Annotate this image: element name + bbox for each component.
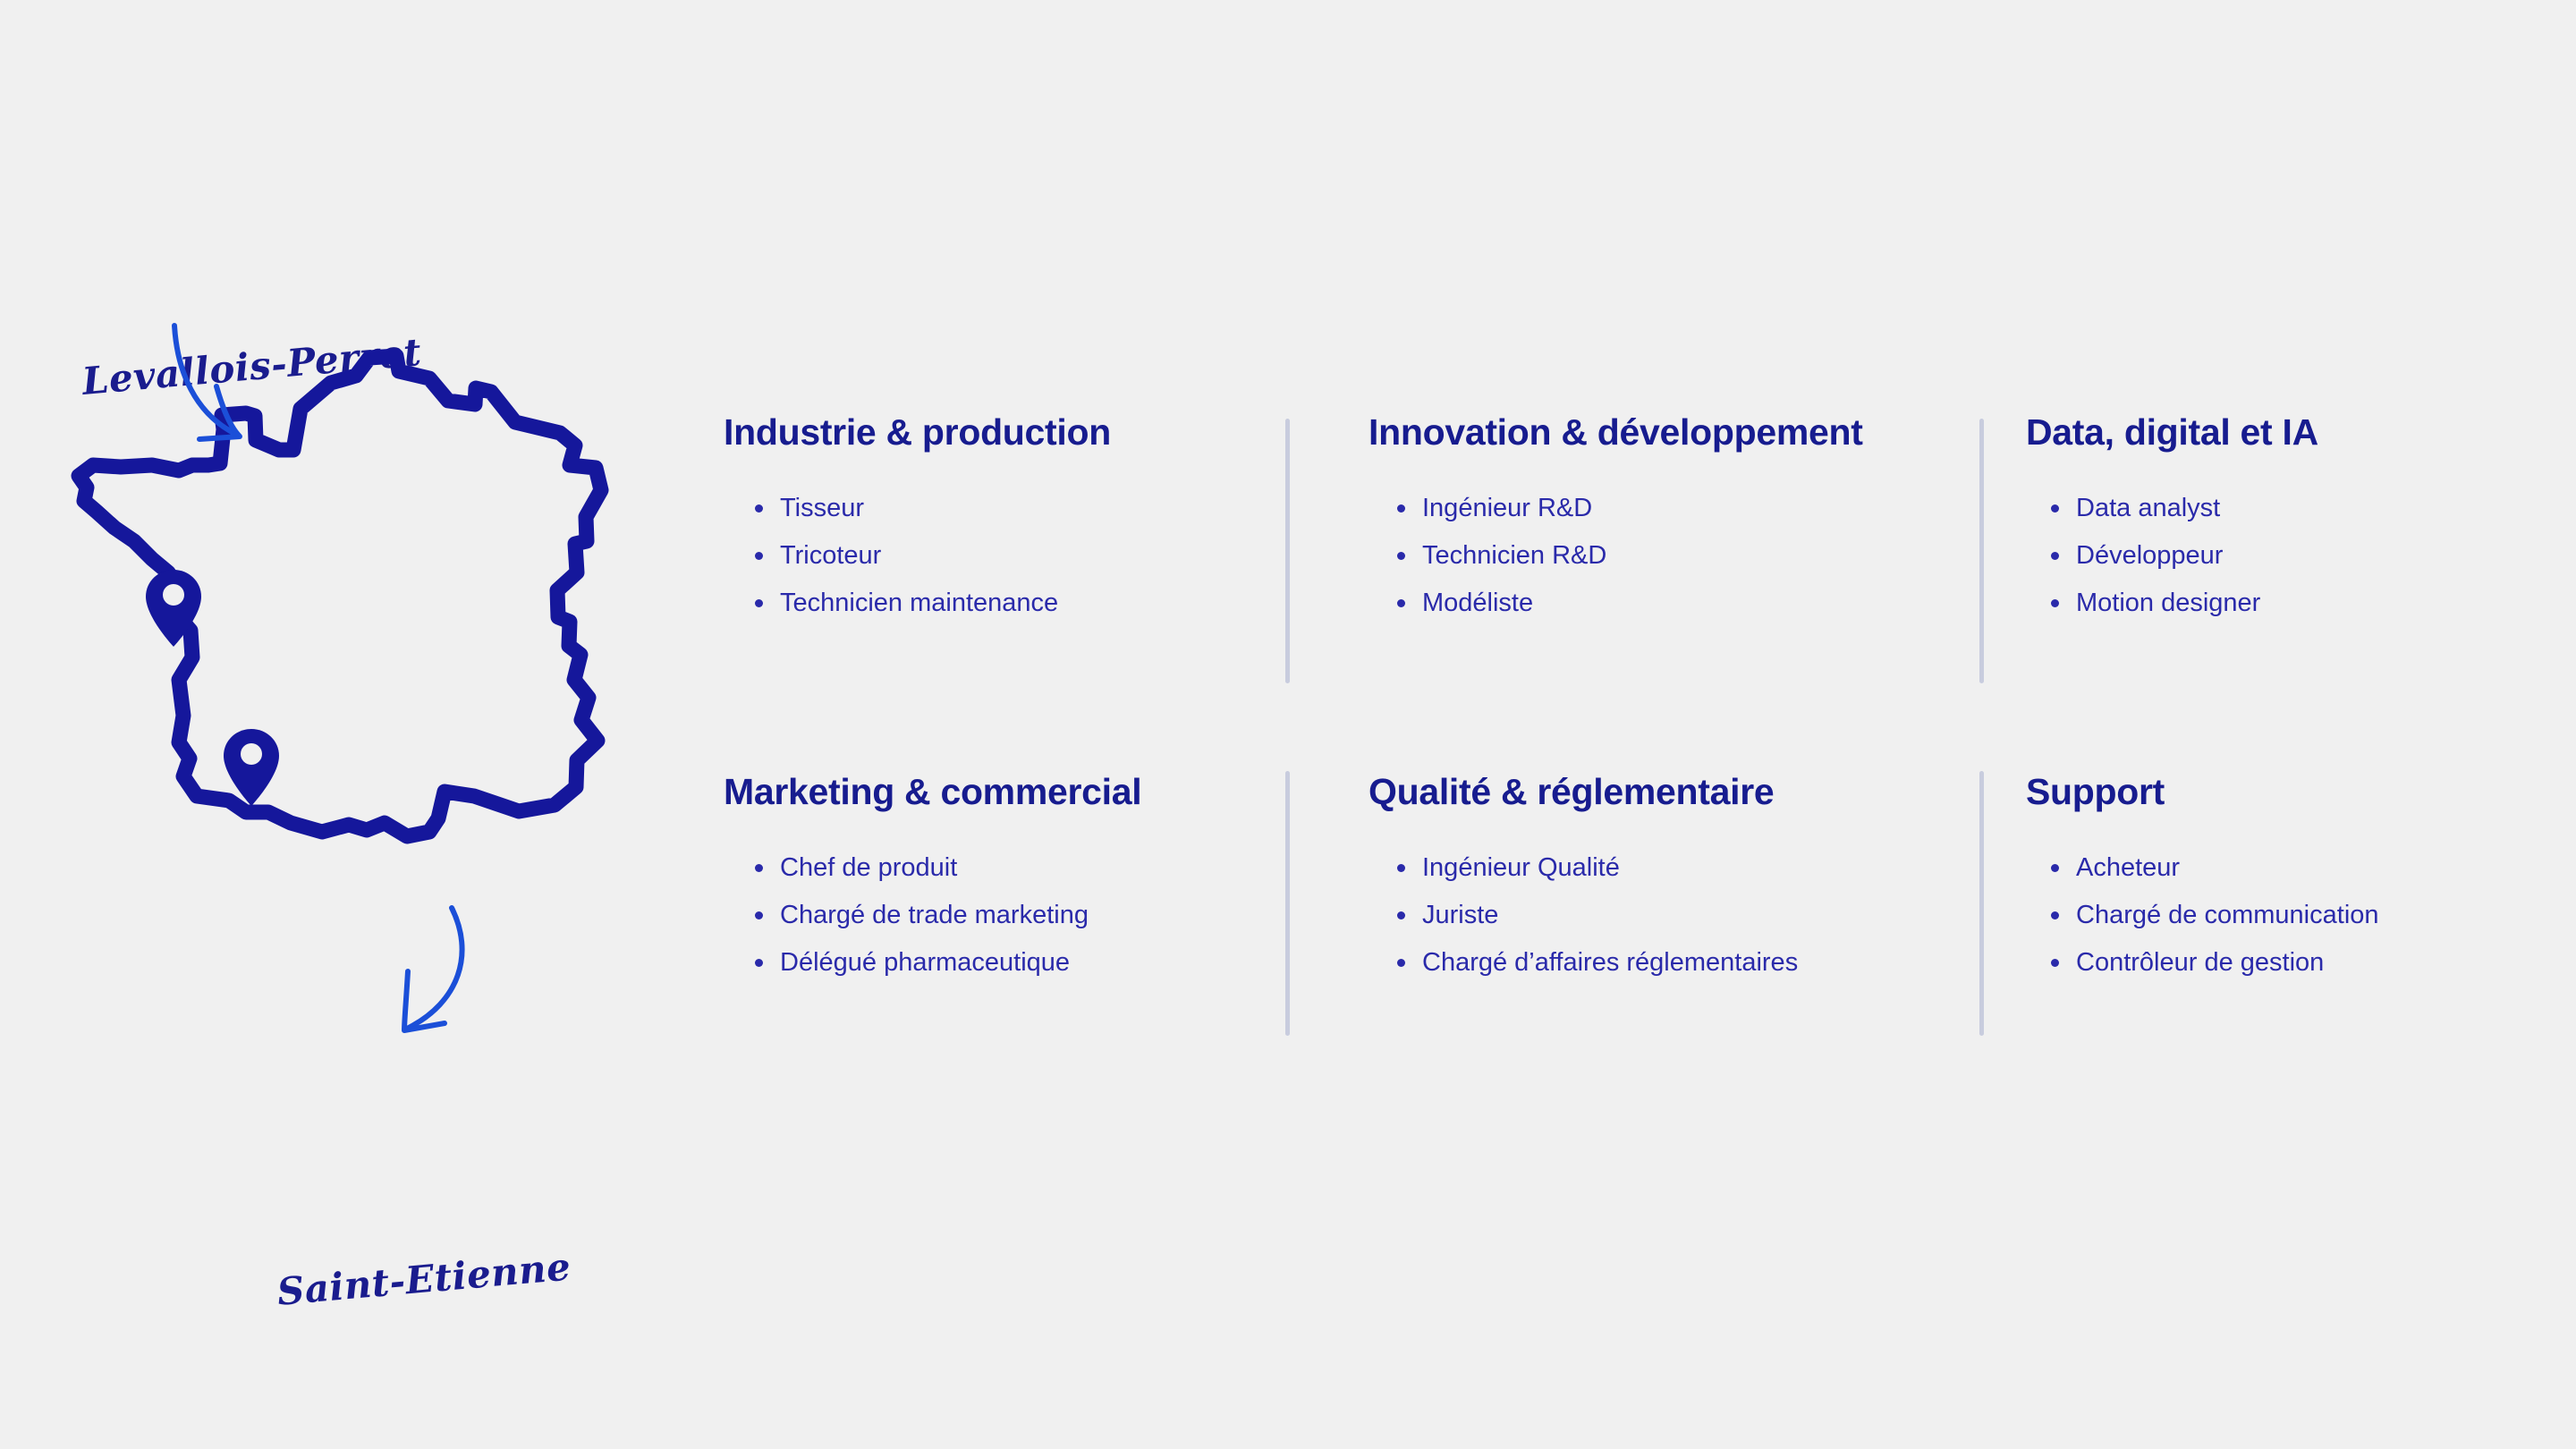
bullet-icon: [1397, 959, 1405, 967]
job-list: Data analyst Développeur Motion designer: [2021, 489, 2563, 622]
category-card-innovation-developpement: Innovation & développement Ingénieur R&D…: [1368, 411, 1905, 631]
list-item: Ingénieur R&D: [1367, 489, 1905, 527]
bullet-icon: [755, 599, 763, 607]
france-map-block: Levallois-Perret Saint-Etienne: [54, 322, 680, 1064]
job-label: Ingénieur R&D: [1422, 494, 1592, 522]
bullet-icon: [755, 959, 763, 967]
list-item: Data analyst: [2021, 489, 2563, 527]
job-list: Ingénieur R&D Technicien R&D Modéliste: [1367, 489, 1905, 622]
bullet-icon: [2051, 864, 2059, 872]
bullet-icon: [1397, 552, 1405, 560]
bullet-icon: [755, 911, 763, 919]
list-item: Ingénieur Qualité: [1367, 849, 1905, 886]
list-item: Tricoteur: [724, 537, 1252, 574]
category-title: Qualité & réglementaire: [1368, 771, 1905, 813]
list-item: Délégué pharmaceutique: [724, 944, 1252, 981]
list-item: Acheteur: [2021, 849, 2563, 886]
map-label-saint-etienne: Saint-Etienne: [275, 1244, 572, 1314]
category-card-data-digital-ia: Data, digital et IA Data analyst Dévelop…: [2026, 411, 2563, 631]
bullet-icon: [2051, 959, 2059, 967]
list-item: Technicien maintenance: [724, 584, 1252, 622]
job-label: Juriste: [1422, 901, 1498, 929]
list-item: Chef de produit: [724, 849, 1252, 886]
list-item: Modéliste: [1367, 584, 1905, 622]
job-label: Motion designer: [2076, 589, 2260, 617]
job-label: Ingénieur Qualité: [1422, 853, 1620, 882]
category-card-qualite-reglementaire: Qualité & réglementaire Ingénieur Qualit…: [1368, 771, 1905, 991]
job-label: Chargé de communication: [2076, 901, 2379, 929]
bullet-icon: [755, 864, 763, 872]
bullet-icon: [2051, 599, 2059, 607]
bullet-icon: [1397, 911, 1405, 919]
category-title: Industrie & production: [724, 411, 1252, 453]
list-item: Tisseur: [724, 489, 1252, 527]
category-title: Data, digital et IA: [2026, 411, 2563, 453]
job-label: Chef de produit: [780, 853, 957, 882]
job-label: Modéliste: [1422, 589, 1533, 617]
job-label: Délégué pharmaceutique: [780, 948, 1070, 977]
bullet-icon: [2051, 552, 2059, 560]
category-card-industrie-production: Industrie & production Tisseur Tricoteur…: [716, 411, 1252, 631]
job-label: Technicien maintenance: [780, 589, 1058, 617]
bullet-icon: [2051, 911, 2059, 919]
page-root: Levallois-Perret Saint-Etienne: [0, 0, 2576, 1449]
job-label: Contrôleur de gestion: [2076, 948, 2324, 977]
job-categories-grid: Industrie & production Tisseur Tricoteur…: [716, 411, 2531, 1055]
france-map-svg: [54, 322, 680, 1064]
job-label: Data analyst: [2076, 494, 2220, 522]
bullet-icon: [755, 552, 763, 560]
job-label: Acheteur: [2076, 853, 2180, 882]
bullet-icon: [755, 504, 763, 513]
job-label: Développeur: [2076, 541, 2223, 570]
job-list: Chef de produit Chargé de trade marketin…: [724, 849, 1252, 981]
bullet-icon: [1397, 599, 1405, 607]
bullet-icon: [1397, 864, 1405, 872]
list-item: Chargé de communication: [2021, 896, 2563, 934]
category-title: Support: [2026, 771, 2563, 813]
list-item: Chargé d’affaires réglementaires: [1367, 944, 1905, 981]
bullet-icon: [1397, 504, 1405, 513]
bullet-icon: [2051, 504, 2059, 513]
list-item: Juriste: [1367, 896, 1905, 934]
arrow-to-levallois-icon: [174, 326, 240, 439]
job-label: Technicien R&D: [1422, 541, 1606, 570]
job-list: Acheteur Chargé de communication Contrôl…: [2021, 849, 2563, 981]
category-card-marketing-commercial: Marketing & commercial Chef de produit C…: [716, 771, 1252, 991]
category-card-support: Support Acheteur Chargé de communication…: [2026, 771, 2563, 991]
job-label: Chargé de trade marketing: [780, 901, 1089, 929]
job-label: Chargé d’affaires réglementaires: [1422, 948, 1798, 977]
list-item: Contrôleur de gestion: [2021, 944, 2563, 981]
job-label: Tisseur: [780, 494, 864, 522]
list-item: Chargé de trade marketing: [724, 896, 1252, 934]
job-label: Tricoteur: [780, 541, 881, 570]
category-title: Innovation & développement: [1368, 411, 1905, 453]
job-list: Tisseur Tricoteur Technicien maintenance: [724, 489, 1252, 622]
category-title: Marketing & commercial: [724, 771, 1252, 813]
list-item: Technicien R&D: [1367, 537, 1905, 574]
list-item: Motion designer: [2021, 584, 2563, 622]
list-item: Développeur: [2021, 537, 2563, 574]
job-list: Ingénieur Qualité Juriste Chargé d’affai…: [1367, 849, 1905, 981]
arrow-to-saint-etienne-icon: [404, 908, 462, 1030]
